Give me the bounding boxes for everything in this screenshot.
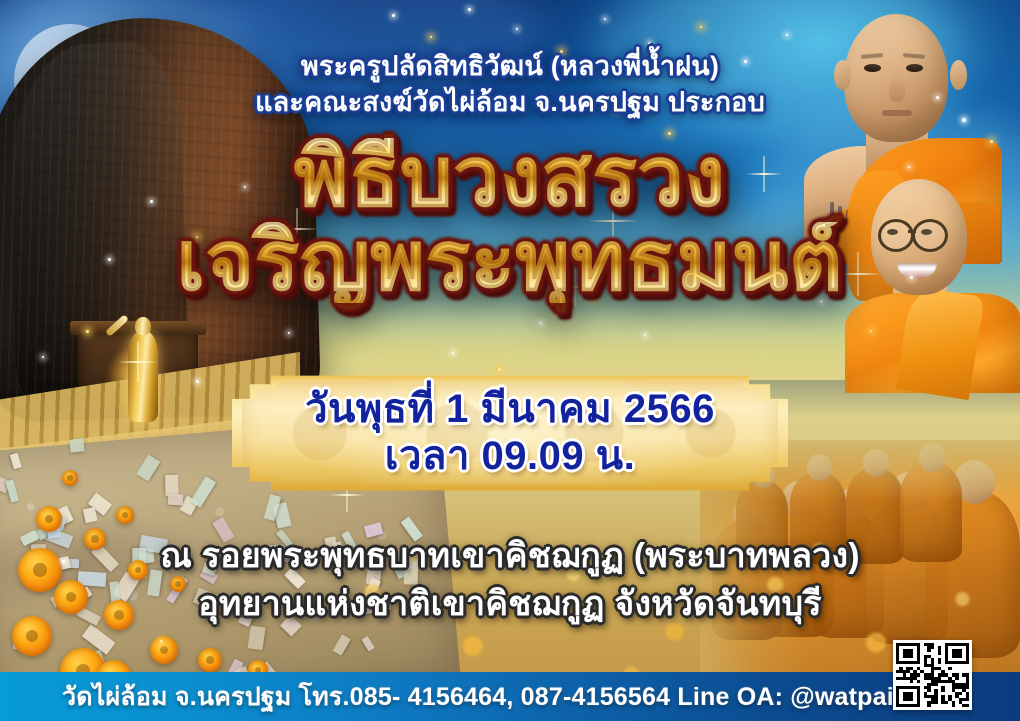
footer-bar: วัดไผ่ล้อม จ.นครปฐม โทร.085- 4156464, 08… xyxy=(0,672,1020,721)
sparkle xyxy=(392,14,395,17)
sparkle xyxy=(540,322,542,324)
sparkle xyxy=(62,560,65,563)
eyeglasses-bridge xyxy=(908,230,916,233)
star-burst xyxy=(556,268,594,306)
line-oa-qr-code[interactable] xyxy=(893,640,972,710)
elder-monk-mouth xyxy=(882,110,912,116)
banner-text-block: วันพุธที่ 1 มีนาคม 2566 เวลา 09.09 น. xyxy=(232,372,788,494)
sparkle xyxy=(744,60,747,63)
sparkle xyxy=(644,334,646,336)
sparkle xyxy=(668,132,671,135)
event-date: วันพุธที่ 1 มีนาคม 2566 xyxy=(305,387,715,432)
sak-yant-tattoo xyxy=(838,206,842,219)
marigold-flower xyxy=(150,636,178,664)
eyeglasses-lens xyxy=(912,219,948,252)
sparkle xyxy=(820,300,823,303)
sparkle xyxy=(332,300,335,303)
star-burst xyxy=(588,196,638,246)
marigold-flower xyxy=(170,576,186,592)
marigold-flower xyxy=(12,616,52,656)
sparkle xyxy=(160,640,163,643)
temple-contact-info: วัดไผ่ล้อม จ.นครปฐม โทร.085- 4156464, 08… xyxy=(62,677,939,717)
sparkle xyxy=(150,200,153,203)
marigold-flower xyxy=(198,648,222,672)
elder-monk-ear xyxy=(950,60,967,90)
sparkle xyxy=(720,98,722,100)
marigold-flower xyxy=(84,528,106,550)
sparkle xyxy=(430,36,432,38)
sparkle xyxy=(516,28,518,30)
elder-monk-nose xyxy=(889,78,905,102)
poster-canvas: พระครูปลัดสิทธิวัฒน์ (หลวงพี่น้ำฝน) และค… xyxy=(0,0,1020,721)
sparkle xyxy=(990,140,993,143)
sparkle xyxy=(498,368,501,371)
sparkle xyxy=(908,166,910,168)
sparkle xyxy=(604,18,606,20)
qr-code-matrix xyxy=(896,643,969,707)
elder-monk-eye xyxy=(906,64,923,72)
sparkle xyxy=(910,276,913,279)
sparkle xyxy=(648,42,651,45)
elder-monk-ear xyxy=(834,60,851,90)
event-time: เวลา 09.09 น. xyxy=(385,434,635,479)
sparkle xyxy=(42,356,44,358)
marigold-flower xyxy=(116,506,134,524)
star-burst xyxy=(746,156,782,192)
eyeglasses-lens xyxy=(878,219,914,252)
banknote xyxy=(70,438,85,453)
sparkle xyxy=(786,34,788,36)
sparkle xyxy=(700,26,702,28)
sparkle xyxy=(108,258,111,261)
sak-yant-tattoo xyxy=(830,202,834,217)
sparkle xyxy=(372,272,375,275)
marigold-flower xyxy=(62,470,78,486)
sparkle xyxy=(244,186,246,188)
sparkle xyxy=(196,380,199,383)
marigold-flower xyxy=(104,600,134,630)
star-burst xyxy=(836,252,880,296)
sparkle xyxy=(560,50,563,53)
banknote xyxy=(168,494,184,506)
sparkle xyxy=(214,608,216,610)
elder-monk-eye xyxy=(864,64,881,72)
marigold-flower xyxy=(54,580,88,614)
sparkle xyxy=(962,118,966,122)
sparkle xyxy=(452,352,454,354)
sparkle xyxy=(870,330,872,332)
sparkle xyxy=(196,236,198,238)
sparkle xyxy=(468,8,471,11)
sparkle xyxy=(936,96,939,99)
sparkle xyxy=(86,330,89,333)
marigold-flower xyxy=(206,596,224,614)
star-burst xyxy=(276,208,318,250)
marigold-flower xyxy=(128,560,148,580)
date-time-banner: วันพุธที่ 1 มีนาคม 2566 เวลา 09.09 น. xyxy=(232,372,788,494)
marigold-flower xyxy=(36,506,62,532)
star-burst xyxy=(118,342,158,382)
sparkle xyxy=(288,332,290,334)
sparkle xyxy=(616,110,618,112)
marigold-flower xyxy=(18,548,62,592)
